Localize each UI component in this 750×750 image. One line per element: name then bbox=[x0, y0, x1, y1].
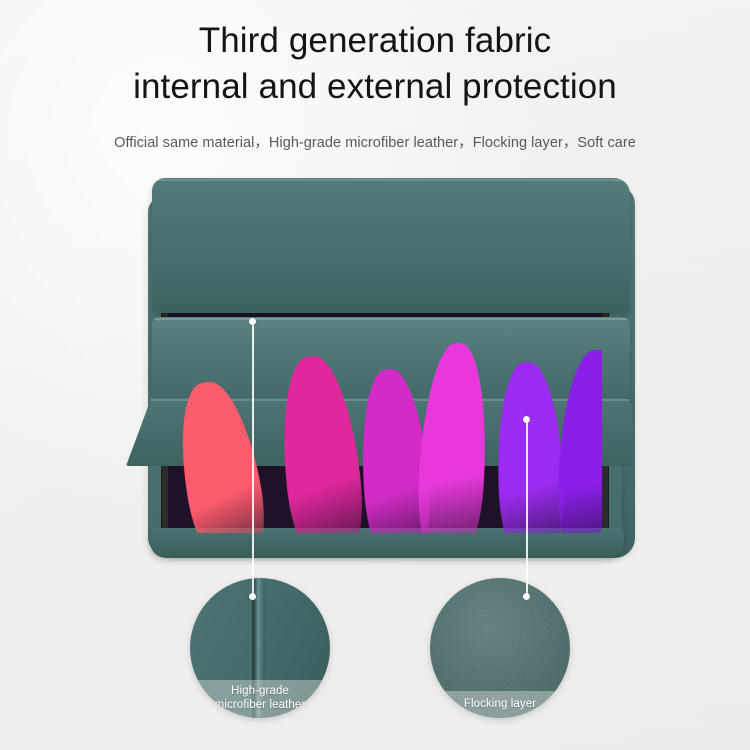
leader-line-flocking bbox=[526, 422, 528, 597]
callout-caption-microfiber-line-1: High-grade bbox=[192, 684, 328, 698]
leader-anchor-dot-microfiber-top bbox=[249, 318, 256, 325]
product-photo bbox=[0, 0, 750, 750]
callout-caption-flocking-line-1: Flocking layer bbox=[434, 697, 566, 711]
leader-anchor-dot-flocking-top bbox=[523, 416, 530, 423]
leader-anchor-dot-microfiber-bottom bbox=[249, 593, 256, 600]
leader-anchor-dot-flocking-bottom bbox=[523, 593, 530, 600]
page-title: Third generation fabric internal and ext… bbox=[0, 18, 750, 109]
callout-microfiber-leather: High-grade microfiber leather bbox=[190, 578, 330, 718]
headline-line-2: internal and external protection bbox=[0, 64, 750, 110]
subtitle-features: Official same material，High-grade microf… bbox=[0, 131, 750, 152]
callout-caption-microfiber: High-grade microfiber leather bbox=[190, 680, 330, 719]
callout-flocking-layer: Flocking layer bbox=[430, 578, 570, 718]
leader-line-microfiber bbox=[252, 325, 254, 597]
callout-caption-flocking: Flocking layer bbox=[430, 691, 570, 718]
callout-caption-microfiber-line-2: microfiber leather bbox=[192, 698, 328, 712]
cover-flap-top bbox=[152, 178, 630, 313]
product-marketing-image: Third generation fabric internal and ext… bbox=[0, 0, 750, 750]
headline-line-1: Third generation fabric bbox=[199, 21, 552, 60]
